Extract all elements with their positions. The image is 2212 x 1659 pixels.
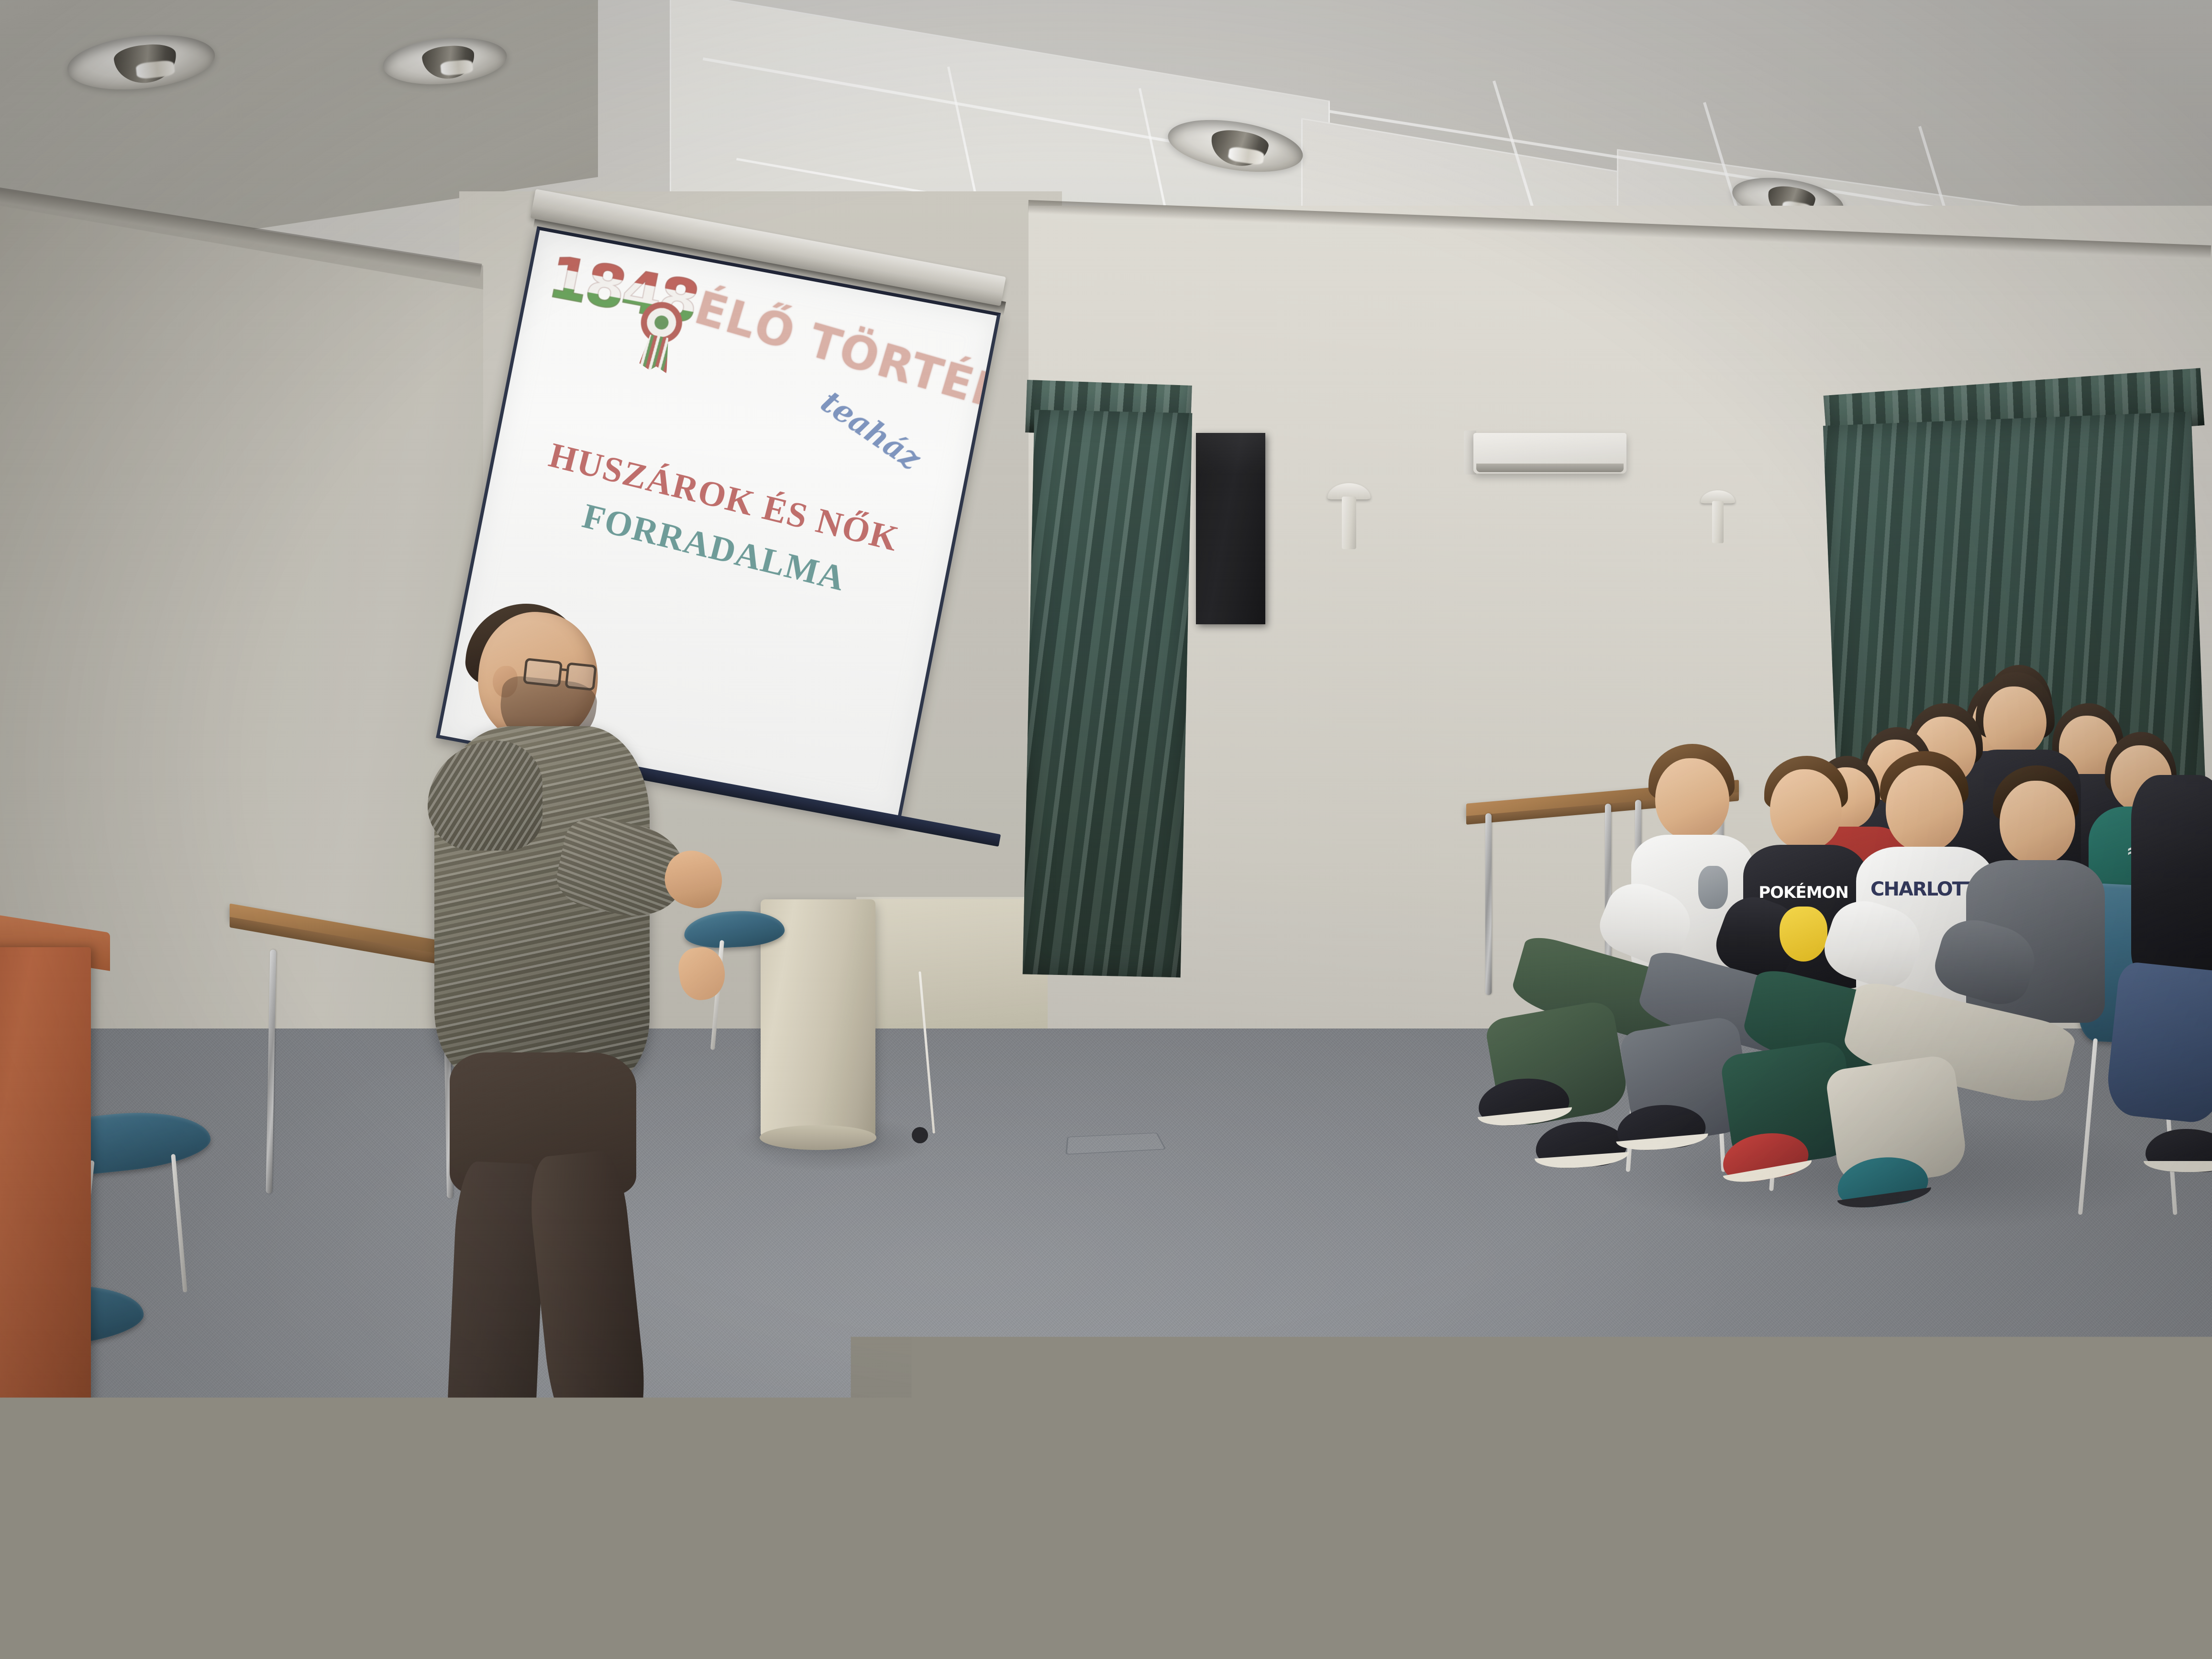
curtain-left	[1023, 410, 1193, 978]
air-conditioner	[1473, 433, 1626, 474]
lectern	[0, 947, 91, 1473]
table-back-leg	[1485, 813, 1492, 995]
conference-room-photo: 1848 ÉLŐ TÖRTÉNELEM teaház HUSZÁROK ÉS N…	[0, 0, 2212, 1659]
tshirt-graphic-text: POKÉMON	[1756, 885, 1851, 900]
screen-cord-weight[interactable]	[912, 1127, 928, 1143]
presenter-leg-right	[525, 1149, 652, 1454]
presenter-shoulder	[428, 741, 542, 851]
presenter	[421, 612, 813, 1612]
wall-speaker	[1196, 433, 1265, 624]
lectern-base	[0, 1416, 110, 1659]
presenter-hand-lower	[676, 944, 728, 1003]
shirt-graphic	[1698, 866, 1728, 909]
cockade-icon	[637, 299, 686, 346]
logo-brand-subtitle: teaház	[814, 384, 927, 477]
presenter-leg-left	[443, 1161, 546, 1508]
tshirt-graphic-text: CHARLOTTE	[1870, 880, 1980, 898]
